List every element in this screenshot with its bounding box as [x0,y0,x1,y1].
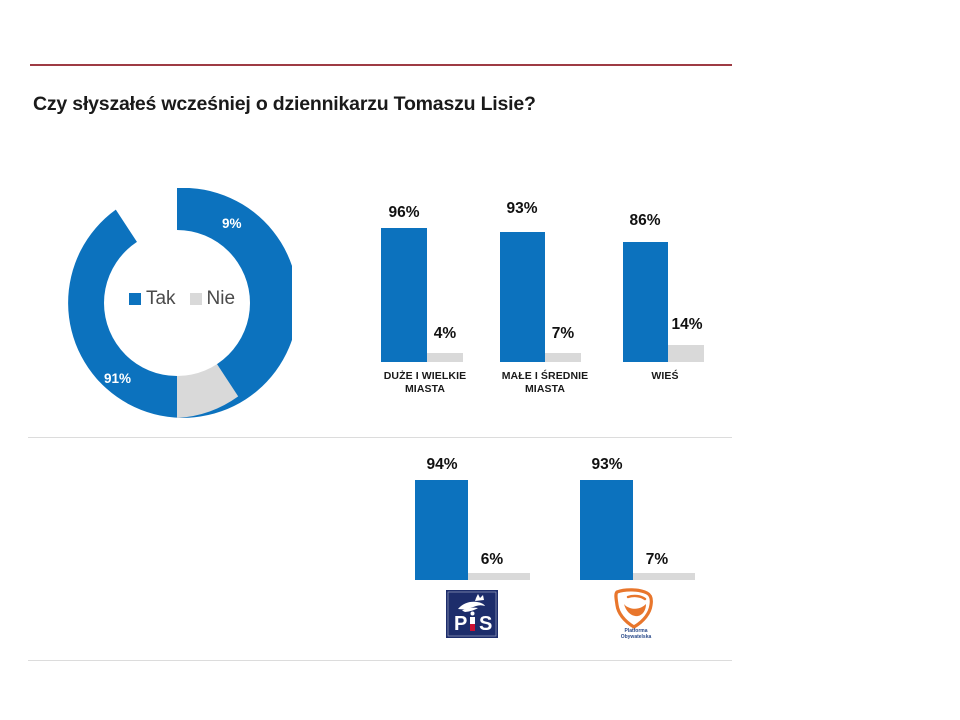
bar-value-nie-duze-miasta: 4% [425,325,465,343]
bar-value-tak-duze-miasta: 96% [379,204,429,222]
bar-group-wies: 86% 14% [623,222,713,362]
bar-nie-male-miasta[interactable] [545,353,581,362]
legend-item-tak[interactable]: Tak [129,289,176,308]
bar-nie-pis[interactable] [468,573,530,580]
bar-tak-pis[interactable] [415,480,468,580]
party-logo-pis[interactable]: P S [446,590,498,638]
bar-value-tak-wies: 86% [620,212,670,230]
legend-item-nie[interactable]: Nie [190,289,236,308]
bar-tak-wies[interactable] [623,242,668,362]
bar-value-nie-male-miasta: 7% [543,325,583,343]
po-caption-line2: Obywatelska [604,634,668,640]
category-label-male-miasta: MAŁE I ŚREDNIE MIASTA [475,370,615,396]
page-title: Czy słyszałeś wcześniej o dziennikarzu T… [33,93,733,116]
legend-label-tak: Tak [146,289,176,308]
pis-logo-icon: P S [446,590,498,638]
bar-value-nie-po: 7% [637,551,677,569]
donut-chart: 91% 9% Tak Nie [62,188,292,418]
po-logo-caption: Platforma Obywatelska [604,628,668,641]
bar-value-tak-male-miasta: 93% [497,200,547,218]
bar-value-nie-wies: 14% [665,316,709,334]
legend-swatch-nie [190,293,202,305]
bar-value-nie-pis: 6% [472,551,512,569]
bar-tak-duze-miasta[interactable] [381,228,427,362]
legend-label-nie: Nie [207,289,236,308]
po-emblem-svg [604,588,664,630]
bar-group-male-miasta: 93% 7% [500,222,590,362]
section-separator-middle [28,437,732,438]
bar-value-tak-po: 93% [582,456,632,474]
party-logo-po[interactable]: Platforma Obywatelska [604,588,664,640]
category-label-wies: WIEŚ [600,370,730,383]
po-logo-icon: Platforma Obywatelska [604,588,664,640]
bar-tak-male-miasta[interactable] [500,232,545,362]
pis-emblem-svg: P S [446,590,498,638]
bar-value-tak-pis: 94% [417,456,467,474]
category-label-line2: MIASTA [475,383,615,396]
legend-swatch-tak [129,293,141,305]
header-accent-rule [30,64,732,66]
category-label-line1: DUŻE I WIELKIE [355,370,495,383]
svg-text:P: P [454,613,467,635]
bar-tak-po[interactable] [580,480,633,580]
category-label-line1: MAŁE I ŚREDNIE [475,370,615,383]
bar-group-duze-miasta: 96% 4% [381,222,471,362]
category-label-line1: WIEŚ [600,370,730,383]
bar-nie-po[interactable] [633,573,695,580]
bar-group-po: 93% 7% [580,470,700,580]
donut-value-nie: 9% [222,216,242,231]
category-label-line2: MIASTA [355,383,495,396]
slide-canvas: Czy słyszałeś wcześniej o dziennikarzu T… [0,0,960,720]
category-label-duze-miasta: DUŻE I WIELKIE MIASTA [355,370,495,396]
bar-nie-wies[interactable] [668,345,704,362]
donut-legend: Tak Nie [112,289,252,308]
bar-group-pis: 94% 6% [415,470,535,580]
svg-text:S: S [479,613,492,635]
bar-nie-duze-miasta[interactable] [427,353,463,362]
section-separator-bottom [28,660,732,661]
donut-value-tak: 91% [104,371,131,386]
